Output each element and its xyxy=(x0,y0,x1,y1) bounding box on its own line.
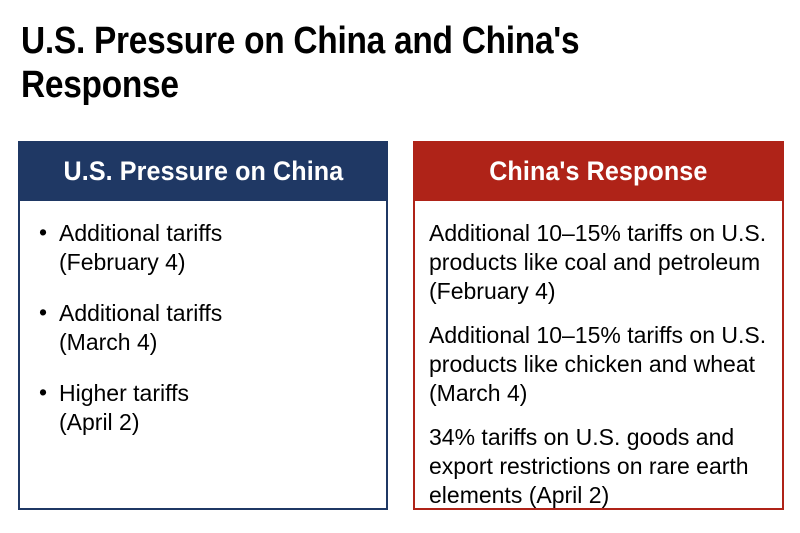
panel-china-response-header: China's Response xyxy=(413,141,784,201)
panel-us-pressure: U.S. Pressure on China Additional tariff… xyxy=(18,141,388,510)
page-title: U.S. Pressure on China and China's Respo… xyxy=(21,19,637,108)
panel-us-pressure-header: U.S. Pressure on China xyxy=(18,141,388,201)
list-item: Additional tariffs (February 4) xyxy=(34,219,372,277)
list-item: Additional tariffs (March 4) xyxy=(34,299,372,357)
list-item: Higher tariffs (April 2) xyxy=(34,379,372,437)
panel-us-pressure-body: Additional tariffs (February 4) Addition… xyxy=(20,201,386,447)
list-item: 34% tariffs on U.S. goods and export res… xyxy=(429,423,768,510)
panel-china-response: China's Response Additional 10–15% tarif… xyxy=(413,141,784,510)
panel-us-pressure-header-label: U.S. Pressure on China xyxy=(63,156,343,187)
us-pressure-bullet-list: Additional tariffs (February 4) Addition… xyxy=(34,219,372,437)
list-item: Additional 10–15% tariffs on U.S. produc… xyxy=(429,321,768,408)
panel-china-response-header-label: China's Response xyxy=(489,156,707,187)
china-response-list: Additional 10–15% tariffs on U.S. produc… xyxy=(429,219,768,510)
panel-china-response-body: Additional 10–15% tariffs on U.S. produc… xyxy=(415,201,782,520)
list-item: Additional 10–15% tariffs on U.S. produc… xyxy=(429,219,768,306)
